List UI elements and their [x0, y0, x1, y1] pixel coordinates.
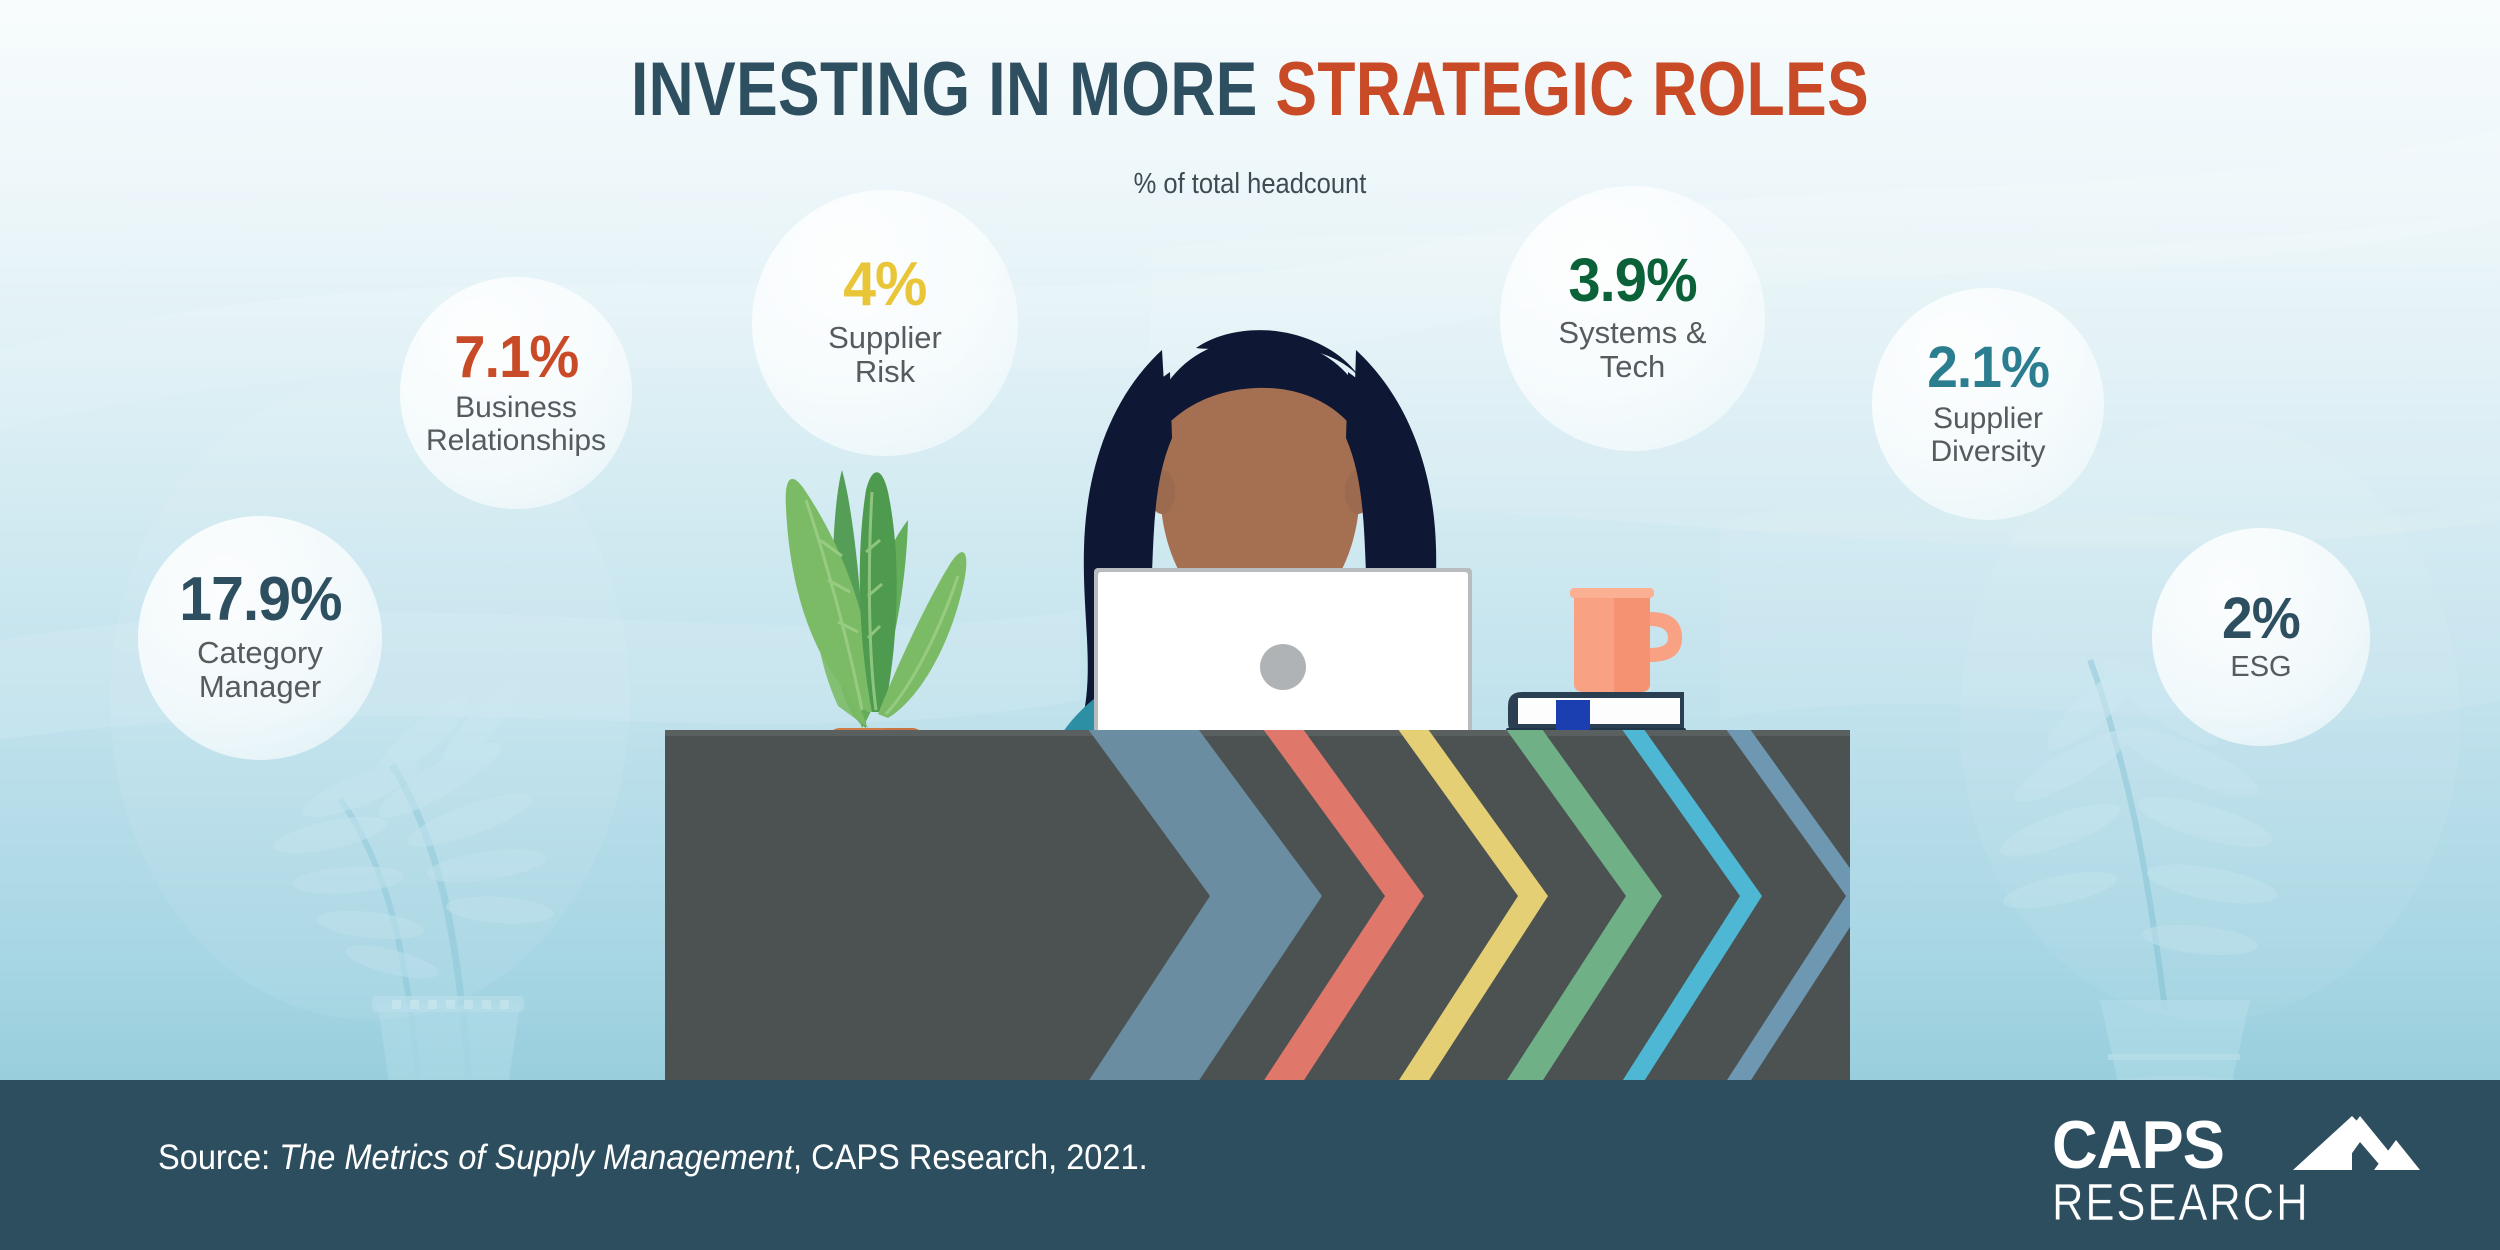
stat-bubble-systems-tech: 3.9% Systems & Tech — [1500, 186, 1765, 451]
stat-value: 2.1% — [1927, 340, 2049, 395]
source-citation: Source: The Metrics of Supply Management… — [158, 1138, 1148, 1178]
mountain-icon — [2293, 1116, 2420, 1170]
stat-value: 3.9% — [1568, 252, 1696, 310]
logo-primary-text: CAPS — [2052, 1107, 2224, 1183]
stat-bubble-supplier-risk: 4% Supplier Risk — [752, 190, 1018, 456]
source-prefix: Source: — [158, 1138, 279, 1177]
stat-bubble-category-manager: 17.9% Category Manager — [138, 516, 382, 760]
stat-label: Business Relationships — [426, 391, 606, 457]
stat-label: Supplier Risk — [828, 321, 942, 389]
stat-bubble-supplier-diversity: 2.1% Supplier Diversity — [1872, 288, 2104, 520]
stat-value: 7.1% — [454, 329, 578, 385]
stat-value: 2% — [2222, 591, 2300, 646]
stat-value: 17.9% — [179, 571, 341, 630]
source-suffix: , CAPS Research, 2021. — [793, 1138, 1148, 1177]
source-title: The Metrics of Supply Management — [279, 1138, 793, 1177]
stat-bubble-business-relationships: 7.1% Business Relationships — [400, 277, 632, 509]
caps-research-logo: CAPS RESEARCH — [2052, 1106, 2442, 1226]
stat-bubble-esg: 2% ESG — [2152, 528, 2370, 746]
stat-label: Systems & Tech — [1558, 316, 1706, 384]
stat-label: Category Manager — [197, 636, 323, 704]
stat-label: ESG — [2230, 652, 2291, 684]
infographic-root: INVESTING IN MORE STRATEGIC ROLES % of t… — [0, 0, 2500, 1250]
footer-bar: Source: The Metrics of Supply Management… — [0, 1080, 2500, 1250]
logo-secondary-text: RESEARCH — [2052, 1175, 2309, 1226]
stat-value: 4% — [843, 256, 926, 315]
stat-label: Supplier Diversity — [1930, 402, 2045, 468]
desk — [665, 718, 1870, 1094]
